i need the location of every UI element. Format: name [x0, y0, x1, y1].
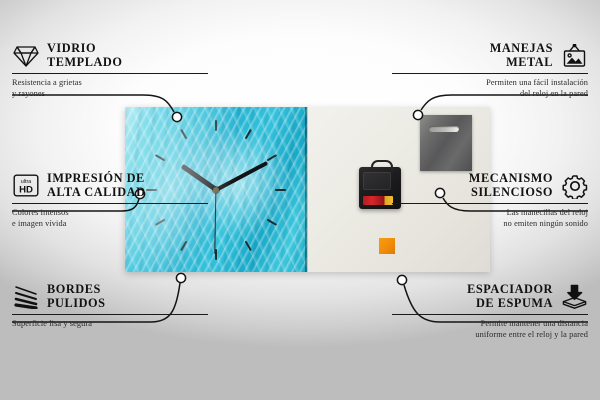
callout-title-line2: ALTA CALIDAD	[47, 186, 146, 199]
infographic-canvas: VIDRIO TEMPLADO Resistencia a grietas y …	[0, 0, 600, 400]
mechanism-detail	[363, 172, 391, 190]
callout-subtitle-line2: del reloj en la pared	[392, 89, 588, 100]
callout-subtitle-line1: Superficie lisa y segura	[12, 319, 208, 330]
hanger-slot	[429, 126, 459, 132]
callout-subtitle-line2: y rayones	[12, 89, 208, 100]
callout-divider	[12, 314, 208, 315]
callout-title-line2: METAL	[490, 56, 553, 69]
callout-title-line1: VIDRIO	[47, 42, 122, 55]
arrow-onto-layer-icon	[561, 283, 588, 310]
callout-tempered-glass: VIDRIO TEMPLADO Resistencia a grietas y …	[12, 42, 208, 99]
callout-high-quality-print: ultra HD IMPRESIÓN DE ALTA CALIDAD Color…	[12, 172, 208, 229]
callout-title-line2: TEMPLADO	[47, 56, 122, 69]
callout-divider	[392, 203, 588, 204]
svg-text:HD: HD	[19, 185, 33, 196]
callout-subtitle-line1: Permiten una fácil instalación	[392, 78, 588, 89]
clock-tick	[215, 189, 252, 251]
callout-title: BORDES PULIDOS	[47, 283, 106, 310]
callout-title-line2: SILENCIOSO	[469, 186, 553, 199]
callout-header: VIDRIO TEMPLADO	[12, 42, 208, 69]
callout-divider	[12, 203, 208, 204]
callout-title-line2: PULIDOS	[47, 297, 106, 310]
clock-tick	[215, 128, 252, 190]
callout-subtitle-line2: uniforme entre el reloj y la pared	[392, 330, 588, 341]
callout-header: BORDES PULIDOS	[12, 283, 208, 310]
callout-subtitle-line1: Permite mantener una distancia	[392, 319, 588, 330]
clock-tick	[216, 189, 278, 226]
callout-title-line1: MANEJAS	[490, 42, 553, 55]
callout-title: ESPACIADOR DE ESPUMA	[467, 283, 553, 310]
ultra-hd-icon: ultra HD	[12, 172, 39, 199]
gear-icon	[561, 172, 588, 199]
callout-title-line1: ESPACIADOR	[467, 283, 553, 296]
diagonal-lines-icon	[12, 283, 39, 310]
clock-tick	[216, 154, 278, 191]
callout-subtitle-line1: Las manecillas del reloj	[392, 208, 588, 219]
callout-metal-handles: MANEJAS METAL Permiten una fácil instala…	[392, 42, 588, 99]
callout-header: MECANISMO SILENCIOSO	[392, 172, 588, 199]
clock-tick	[215, 120, 217, 190]
callout-subtitle-line2: e imagen vívida	[12, 219, 208, 230]
callout-title: MECANISMO SILENCIOSO	[469, 172, 553, 199]
clock-tick	[216, 189, 286, 191]
diamond-icon	[12, 42, 39, 69]
callout-title: MANEJAS METAL	[490, 42, 553, 69]
callout-foam-spacer: ESPACIADOR DE ESPUMA Permite mantener un…	[392, 283, 588, 340]
clock-second-hand	[214, 189, 217, 253]
clock-minute-hand	[215, 161, 268, 192]
callout-divider	[392, 314, 588, 315]
callout-subtitle-line2: no emiten ningún sonido	[392, 219, 588, 230]
callout-header: ESPACIADOR DE ESPUMA	[392, 283, 588, 310]
battery	[363, 196, 393, 205]
foam-spacer	[379, 238, 395, 254]
callout-silent-mechanism: MECANISMO SILENCIOSO Las manecillas del …	[392, 172, 588, 229]
callout-subtitle-line1: Resistencia a grietas	[12, 78, 208, 89]
clock-tick	[215, 190, 217, 260]
callout-polished-edges: BORDES PULIDOS Superficie lisa y segura	[12, 283, 208, 330]
callout-title: IMPRESIÓN DE ALTA CALIDAD	[47, 172, 146, 199]
callout-title-line1: MECANISMO	[469, 172, 553, 185]
callout-header: ultra HD IMPRESIÓN DE ALTA CALIDAD	[12, 172, 208, 199]
callout-divider	[12, 73, 208, 74]
callout-subtitle-line1: Colores intensos	[12, 208, 208, 219]
callout-title-line1: IMPRESIÓN DE	[47, 172, 146, 185]
callout-title: VIDRIO TEMPLADO	[47, 42, 122, 69]
clock-center-cap	[213, 187, 219, 193]
callout-title-line1: BORDES	[47, 283, 106, 296]
connector-dot-polished-edges	[176, 273, 185, 282]
callout-header: MANEJAS METAL	[392, 42, 588, 69]
panel-seam	[305, 107, 308, 272]
metal-hanger-plate	[420, 115, 472, 171]
callout-divider	[392, 73, 588, 74]
callout-title-line2: DE ESPUMA	[467, 297, 553, 310]
picture-frame-icon	[561, 42, 588, 69]
mechanism-hanging-loop	[371, 160, 393, 172]
